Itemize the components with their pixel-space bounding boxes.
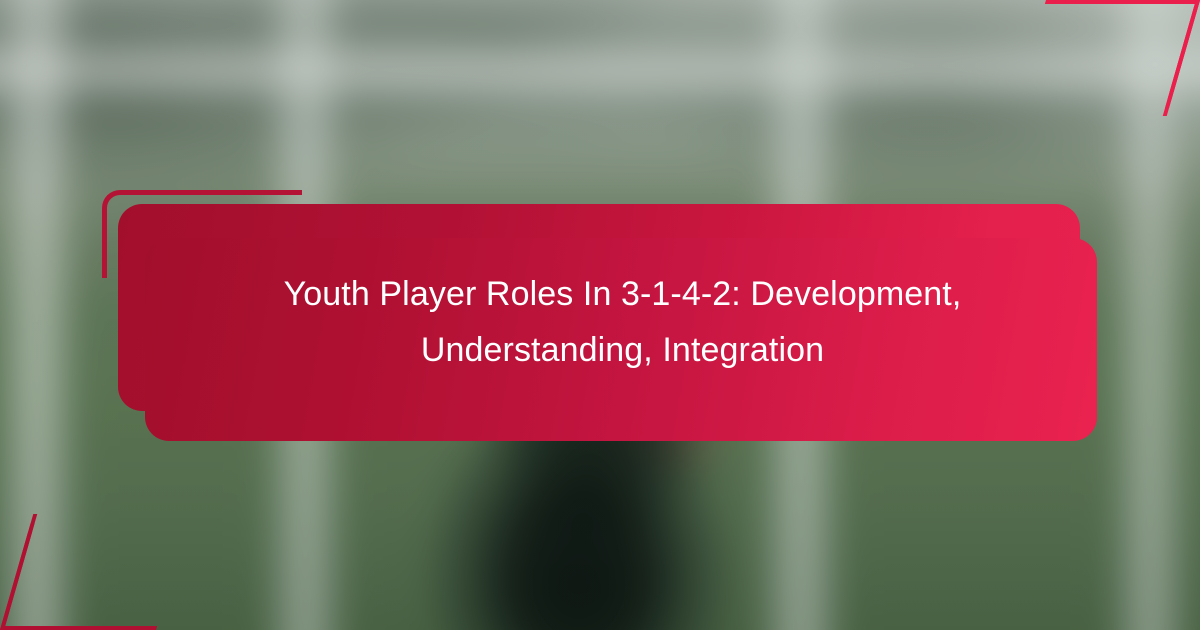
page-title: Youth Player Roles In 3-1-4-2: Developme… <box>233 267 1013 377</box>
social-card-canvas: Youth Player Roles In 3-1-4-2: Developme… <box>0 0 1200 630</box>
hero-card-group: Youth Player Roles In 3-1-4-2: Developme… <box>0 0 1200 630</box>
card-title-container: Youth Player Roles In 3-1-4-2: Developme… <box>150 204 1095 441</box>
